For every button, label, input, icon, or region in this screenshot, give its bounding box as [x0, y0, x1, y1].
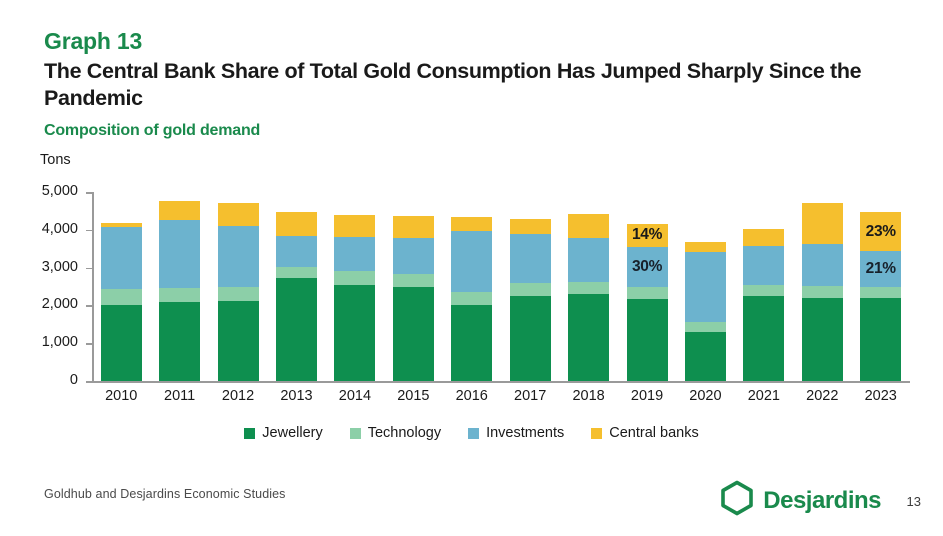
bar-segment-technology[interactable] — [451, 292, 492, 305]
bar-segment-jewellery[interactable] — [334, 285, 375, 381]
bar-column[interactable] — [384, 192, 442, 381]
bar-segment-technology[interactable] — [510, 283, 551, 295]
bar-column[interactable]: 14%30% — [618, 192, 676, 381]
y-axis-tick-label: 0 — [20, 372, 78, 388]
stacked-bar[interactable] — [218, 203, 259, 381]
bar-column[interactable] — [326, 192, 384, 381]
bar-segment-investments[interactable] — [276, 236, 317, 267]
bar-segment-jewellery[interactable] — [101, 305, 142, 381]
y-axis-tick-label: 4,000 — [20, 221, 78, 237]
slide: Graph 13 The Central Bank Share of Total… — [0, 0, 943, 536]
stacked-bar[interactable] — [802, 203, 843, 381]
bar-segment-central-banks[interactable] — [510, 219, 551, 234]
bar-column[interactable] — [92, 192, 150, 381]
legend-swatch-icon — [350, 428, 361, 439]
bar-value-label: 14% — [627, 226, 668, 244]
stacked-bar[interactable]: 23%21% — [860, 212, 901, 381]
stacked-bar[interactable] — [685, 242, 726, 381]
bar-segment-jewellery[interactable] — [159, 302, 200, 381]
x-axis-tick-label: 2011 — [150, 388, 208, 404]
page-title: The Central Bank Share of Total Gold Con… — [44, 58, 914, 112]
bar-segment-central-banks[interactable] — [393, 216, 434, 238]
brand-name: Desjardins — [763, 487, 881, 515]
y-axis-unit-label: Tons — [40, 152, 71, 168]
bar-segment-jewellery[interactable] — [743, 296, 784, 381]
x-axis-labels: 2010201120122013201420152016201720182019… — [92, 388, 910, 404]
bar-segment-central-banks[interactable] — [568, 214, 609, 239]
bar-segment-investments[interactable] — [334, 237, 375, 271]
x-axis-tick-label: 2018 — [559, 388, 617, 404]
bar-column[interactable] — [443, 192, 501, 381]
bar-segment-investments[interactable] — [568, 238, 609, 282]
bar-segment-investments[interactable]: 30% — [627, 247, 668, 287]
bar-segment-jewellery[interactable] — [393, 287, 434, 381]
stacked-bar[interactable] — [451, 217, 492, 381]
bar-segment-central-banks[interactable] — [802, 203, 843, 244]
bar-segment-investments[interactable] — [510, 234, 551, 284]
stacked-bar[interactable] — [159, 201, 200, 381]
x-axis-tick-label: 2013 — [267, 388, 325, 404]
bar-segment-technology[interactable] — [627, 287, 668, 299]
x-axis-tick-label: 2014 — [326, 388, 384, 404]
y-axis-tick — [86, 343, 93, 345]
bar-segment-jewellery[interactable] — [451, 305, 492, 381]
stacked-bar[interactable] — [743, 229, 784, 381]
bar-segment-jewellery[interactable] — [276, 278, 317, 381]
x-axis-tick-label: 2023 — [851, 388, 909, 404]
y-axis-tick — [86, 268, 93, 270]
legend-swatch-icon — [591, 428, 602, 439]
bar-segment-investments[interactable] — [159, 220, 200, 288]
x-axis-tick-label: 2016 — [443, 388, 501, 404]
page-number: 13 — [907, 494, 921, 509]
bar-column[interactable] — [735, 192, 793, 381]
bar-segment-technology[interactable] — [568, 282, 609, 294]
bar-segment-central-banks[interactable] — [451, 217, 492, 232]
bar-segment-jewellery[interactable] — [568, 294, 609, 381]
bar-segment-central-banks[interactable] — [334, 215, 375, 238]
bar-column[interactable] — [676, 192, 734, 381]
y-axis-tick — [86, 305, 93, 307]
legend-label: Jewellery — [262, 425, 322, 441]
x-axis-tick-label: 2020 — [676, 388, 734, 404]
bar-segment-technology[interactable] — [685, 322, 726, 332]
stacked-bar[interactable]: 14%30% — [627, 224, 668, 381]
stacked-bar[interactable] — [334, 215, 375, 381]
x-axis-tick-label: 2012 — [209, 388, 267, 404]
bar-segment-investments[interactable] — [218, 226, 259, 287]
bar-segment-investments[interactable] — [743, 246, 784, 285]
bar-segment-technology[interactable] — [393, 274, 434, 287]
bar-segment-central-banks[interactable] — [159, 201, 200, 219]
bar-segment-technology[interactable] — [802, 286, 843, 298]
legend-item-central-banks[interactable]: Central banks — [591, 425, 698, 441]
bar-segment-central-banks[interactable] — [743, 229, 784, 246]
bar-column[interactable] — [150, 192, 208, 381]
bar-segment-jewellery[interactable] — [627, 299, 668, 381]
bar-segment-central-banks[interactable] — [276, 212, 317, 236]
y-axis-tick-label: 2,000 — [20, 296, 78, 312]
bar-segment-investments[interactable] — [393, 238, 434, 274]
bar-segment-jewellery[interactable] — [860, 298, 901, 381]
y-axis-tick — [86, 381, 93, 383]
bar-segment-jewellery[interactable] — [218, 301, 259, 382]
bar-value-label: 23% — [860, 223, 901, 241]
bar-segment-jewellery[interactable] — [685, 332, 726, 381]
legend-label: Investments — [486, 425, 564, 441]
stacked-bar[interactable] — [510, 219, 551, 381]
bar-segment-central-banks[interactable] — [685, 242, 726, 252]
bar-segment-technology[interactable] — [860, 287, 901, 298]
bar-column[interactable] — [559, 192, 617, 381]
legend-label: Central banks — [609, 425, 698, 441]
y-axis-tick-label: 1,000 — [20, 334, 78, 350]
bar-segment-technology[interactable] — [218, 287, 259, 301]
bar-segment-jewellery[interactable] — [510, 296, 551, 381]
bar-segment-technology[interactable] — [159, 288, 200, 303]
y-axis-tick-label: 5,000 — [20, 183, 78, 199]
bar-segment-investments[interactable]: 21% — [860, 251, 901, 287]
stacked-bar[interactable] — [568, 214, 609, 381]
brand-logo: Desjardins — [720, 480, 881, 521]
bar-column[interactable] — [793, 192, 851, 381]
legend-item-jewellery[interactable]: Jewellery — [244, 425, 322, 441]
chart-subtitle: Composition of gold demand — [44, 122, 260, 140]
y-axis-labels: 01,0002,0003,0004,0005,000 — [16, 192, 78, 381]
x-axis-tick-label: 2010 — [92, 388, 150, 404]
stacked-bar[interactable] — [276, 212, 317, 381]
bar-column[interactable] — [267, 192, 325, 381]
bar-column[interactable] — [209, 192, 267, 381]
legend-label: Technology — [368, 425, 441, 441]
bar-value-label: 21% — [860, 260, 901, 278]
x-axis-tick-label: 2017 — [501, 388, 559, 404]
legend-swatch-icon — [244, 428, 255, 439]
bar-segment-investments[interactable] — [802, 244, 843, 286]
y-axis-tick — [86, 192, 93, 194]
bar-segment-jewellery[interactable] — [802, 298, 843, 381]
bar-column[interactable]: 23%21% — [851, 192, 909, 381]
stacked-bar[interactable] — [101, 223, 142, 381]
bar-segment-investments[interactable] — [451, 231, 492, 291]
bar-segment-central-banks[interactable] — [218, 203, 259, 226]
bar-segment-investments[interactable] — [101, 227, 142, 289]
bar-value-label: 30% — [627, 258, 668, 276]
legend-item-technology[interactable]: Technology — [350, 425, 441, 441]
x-axis-tick-label: 2021 — [735, 388, 793, 404]
bar-segment-investments[interactable] — [685, 252, 726, 322]
legend-swatch-icon — [468, 428, 479, 439]
stacked-bar[interactable] — [393, 216, 434, 381]
x-axis-tick-label: 2019 — [618, 388, 676, 404]
hexagon-outline-icon — [720, 480, 754, 521]
x-axis-tick-label: 2015 — [384, 388, 442, 404]
source-note: Goldhub and Desjardins Economic Studies — [44, 487, 286, 501]
graph-number-label: Graph 13 — [44, 28, 142, 55]
chart-legend: JewelleryTechnologyInvestmentsCentral ba… — [0, 425, 943, 441]
y-axis-tick — [86, 230, 93, 232]
y-axis-tick-label: 3,000 — [20, 259, 78, 275]
bar-segment-technology[interactable] — [334, 271, 375, 284]
bar-segment-central-banks[interactable]: 23% — [860, 212, 901, 251]
chart-plot-area: 14%30%23%21% — [92, 192, 910, 381]
bar-segment-technology[interactable] — [743, 285, 784, 296]
bar-segment-technology[interactable] — [101, 289, 142, 305]
bar-column[interactable] — [501, 192, 559, 381]
bar-segment-central-banks[interactable]: 14% — [627, 224, 668, 247]
legend-item-investments[interactable]: Investments — [468, 425, 564, 441]
bar-segment-technology[interactable] — [276, 267, 317, 278]
x-axis-tick-label: 2022 — [793, 388, 851, 404]
x-axis-line — [92, 381, 910, 383]
